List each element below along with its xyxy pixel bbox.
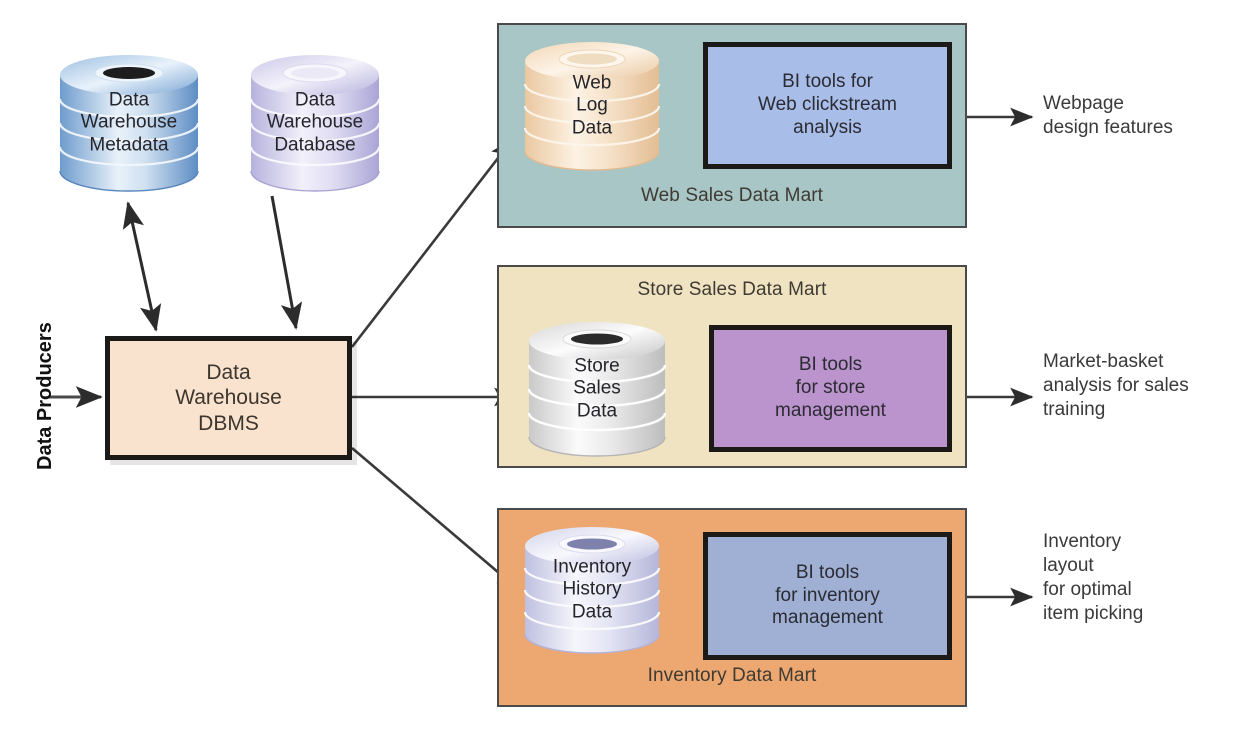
bi-tools-box-web[interactable]: BI tools for Web clickstream analysis <box>703 42 952 169</box>
data-warehouse-dbms-box[interactable]: Data Warehouse DBMS <box>105 336 352 460</box>
mart-label-web-sales: Web Sales Data Mart <box>497 185 967 207</box>
cylinder-inventory-history-data: Inventory History Data <box>523 525 661 655</box>
bi-tools-box-store[interactable]: BI tools for store management <box>709 325 952 452</box>
side-caption-data-producers: Data Producers <box>34 322 57 470</box>
bi-tools-label: BI tools for store management <box>775 354 886 422</box>
bi-tools-label: BI tools for inventory management <box>772 562 883 630</box>
dbms-label: Data Warehouse DBMS <box>175 360 282 437</box>
arrow-dbms-metadata <box>128 203 156 330</box>
output-caption-inventory: Inventory layout for optimal item pickin… <box>1043 530 1248 626</box>
output-caption-web: Webpage design features <box>1043 92 1248 140</box>
cylinder-store-sales-data: Store Sales Data <box>527 320 667 458</box>
cylinder-data-warehouse-metadata: Data Warehouse Metadata <box>58 53 200 193</box>
output-caption-store: Market-basket analysis for sales trainin… <box>1043 350 1252 422</box>
arrow-database-to-dbms <box>272 196 296 328</box>
mart-label-inventory: Inventory Data Mart <box>497 665 967 687</box>
arrow-dbms-to-inventory-mart <box>352 448 519 590</box>
mart-label-store-sales: Store Sales Data Mart <box>497 279 967 301</box>
bi-tools-label: BI tools for Web clickstream analysis <box>758 71 897 139</box>
cylinder-data-warehouse-database: Data Warehouse Database <box>249 53 381 193</box>
cylinder-web-log-data: Web Log Data <box>523 40 661 172</box>
bi-tools-box-inventory[interactable]: BI tools for inventory management <box>703 532 952 660</box>
diagram-canvas: Data Producers <box>0 0 1252 734</box>
